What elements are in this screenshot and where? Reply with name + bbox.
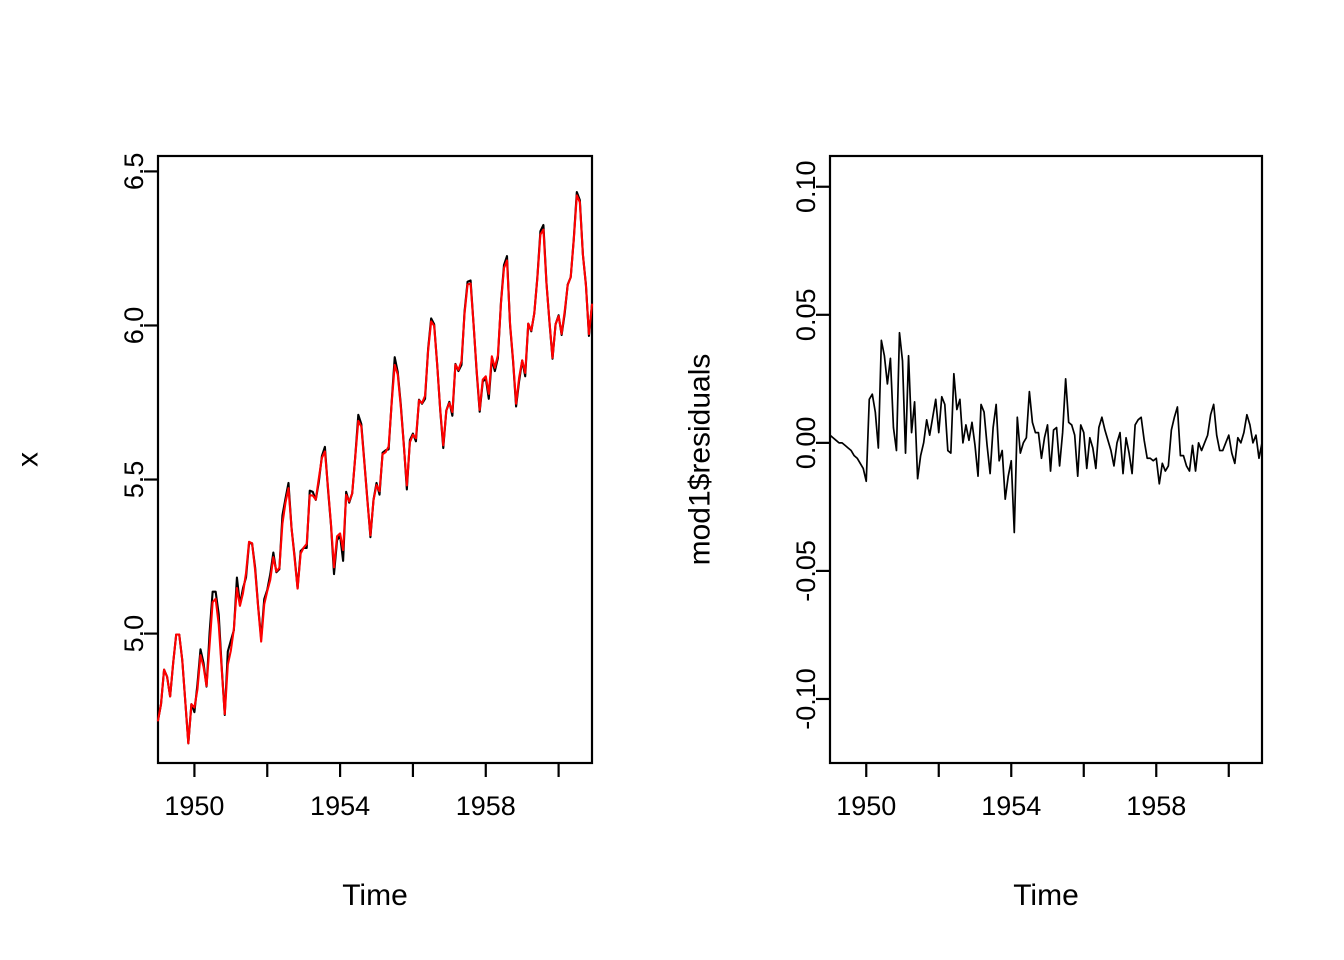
y-tick-label: 5.5 <box>119 461 149 499</box>
right-data-series <box>830 333 1262 533</box>
series-observed <box>158 192 592 743</box>
left-axes <box>158 156 592 763</box>
x-tick-label: 1958 <box>1126 791 1186 821</box>
y-tick-label: 6.5 <box>119 153 149 191</box>
x-tick-label: 1958 <box>456 791 516 821</box>
left-plot-svg: 5.05.56.06.5195019541958Timex <box>0 0 672 960</box>
y-axis-title: x <box>12 452 45 467</box>
x-tick-label: 1950 <box>164 791 224 821</box>
y-tick-label: 5.0 <box>119 615 149 653</box>
left-axis-labels: 5.05.56.06.5195019541958Timex <box>12 153 516 912</box>
x-tick-label: 1954 <box>310 791 370 821</box>
plot-box <box>158 156 592 763</box>
left-data-series <box>158 192 592 743</box>
y-tick-label: 0.10 <box>791 160 821 213</box>
y-tick-label: 0.05 <box>791 289 821 342</box>
right-plot-svg: -0.10-0.050.000.050.10195019541958Timemo… <box>672 0 1344 960</box>
y-axis-title: mod1$residuals <box>684 354 717 566</box>
y-tick-label: 6.0 <box>119 307 149 345</box>
x-axis-title: Time <box>1013 879 1079 912</box>
r-plot-device: 5.05.56.06.5195019541958Timex -0.10-0.05… <box>0 0 1344 960</box>
x-tick-label: 1954 <box>981 791 1041 821</box>
y-tick-label: -0.05 <box>791 540 821 602</box>
y-tick-label: -0.10 <box>791 668 821 730</box>
series-fitted <box>158 195 592 743</box>
x-axis-title: Time <box>342 879 408 912</box>
right-tick-marks <box>816 187 1229 777</box>
panel-residuals: -0.10-0.050.000.050.10195019541958Timemo… <box>672 0 1344 960</box>
right-axis-labels: -0.10-0.050.000.050.10195019541958Timemo… <box>684 160 1187 912</box>
series-residuals <box>830 333 1262 533</box>
panel-observed-vs-fitted: 5.05.56.06.5195019541958Timex <box>0 0 672 960</box>
y-tick-label: 0.00 <box>791 417 821 470</box>
x-tick-label: 1950 <box>836 791 896 821</box>
